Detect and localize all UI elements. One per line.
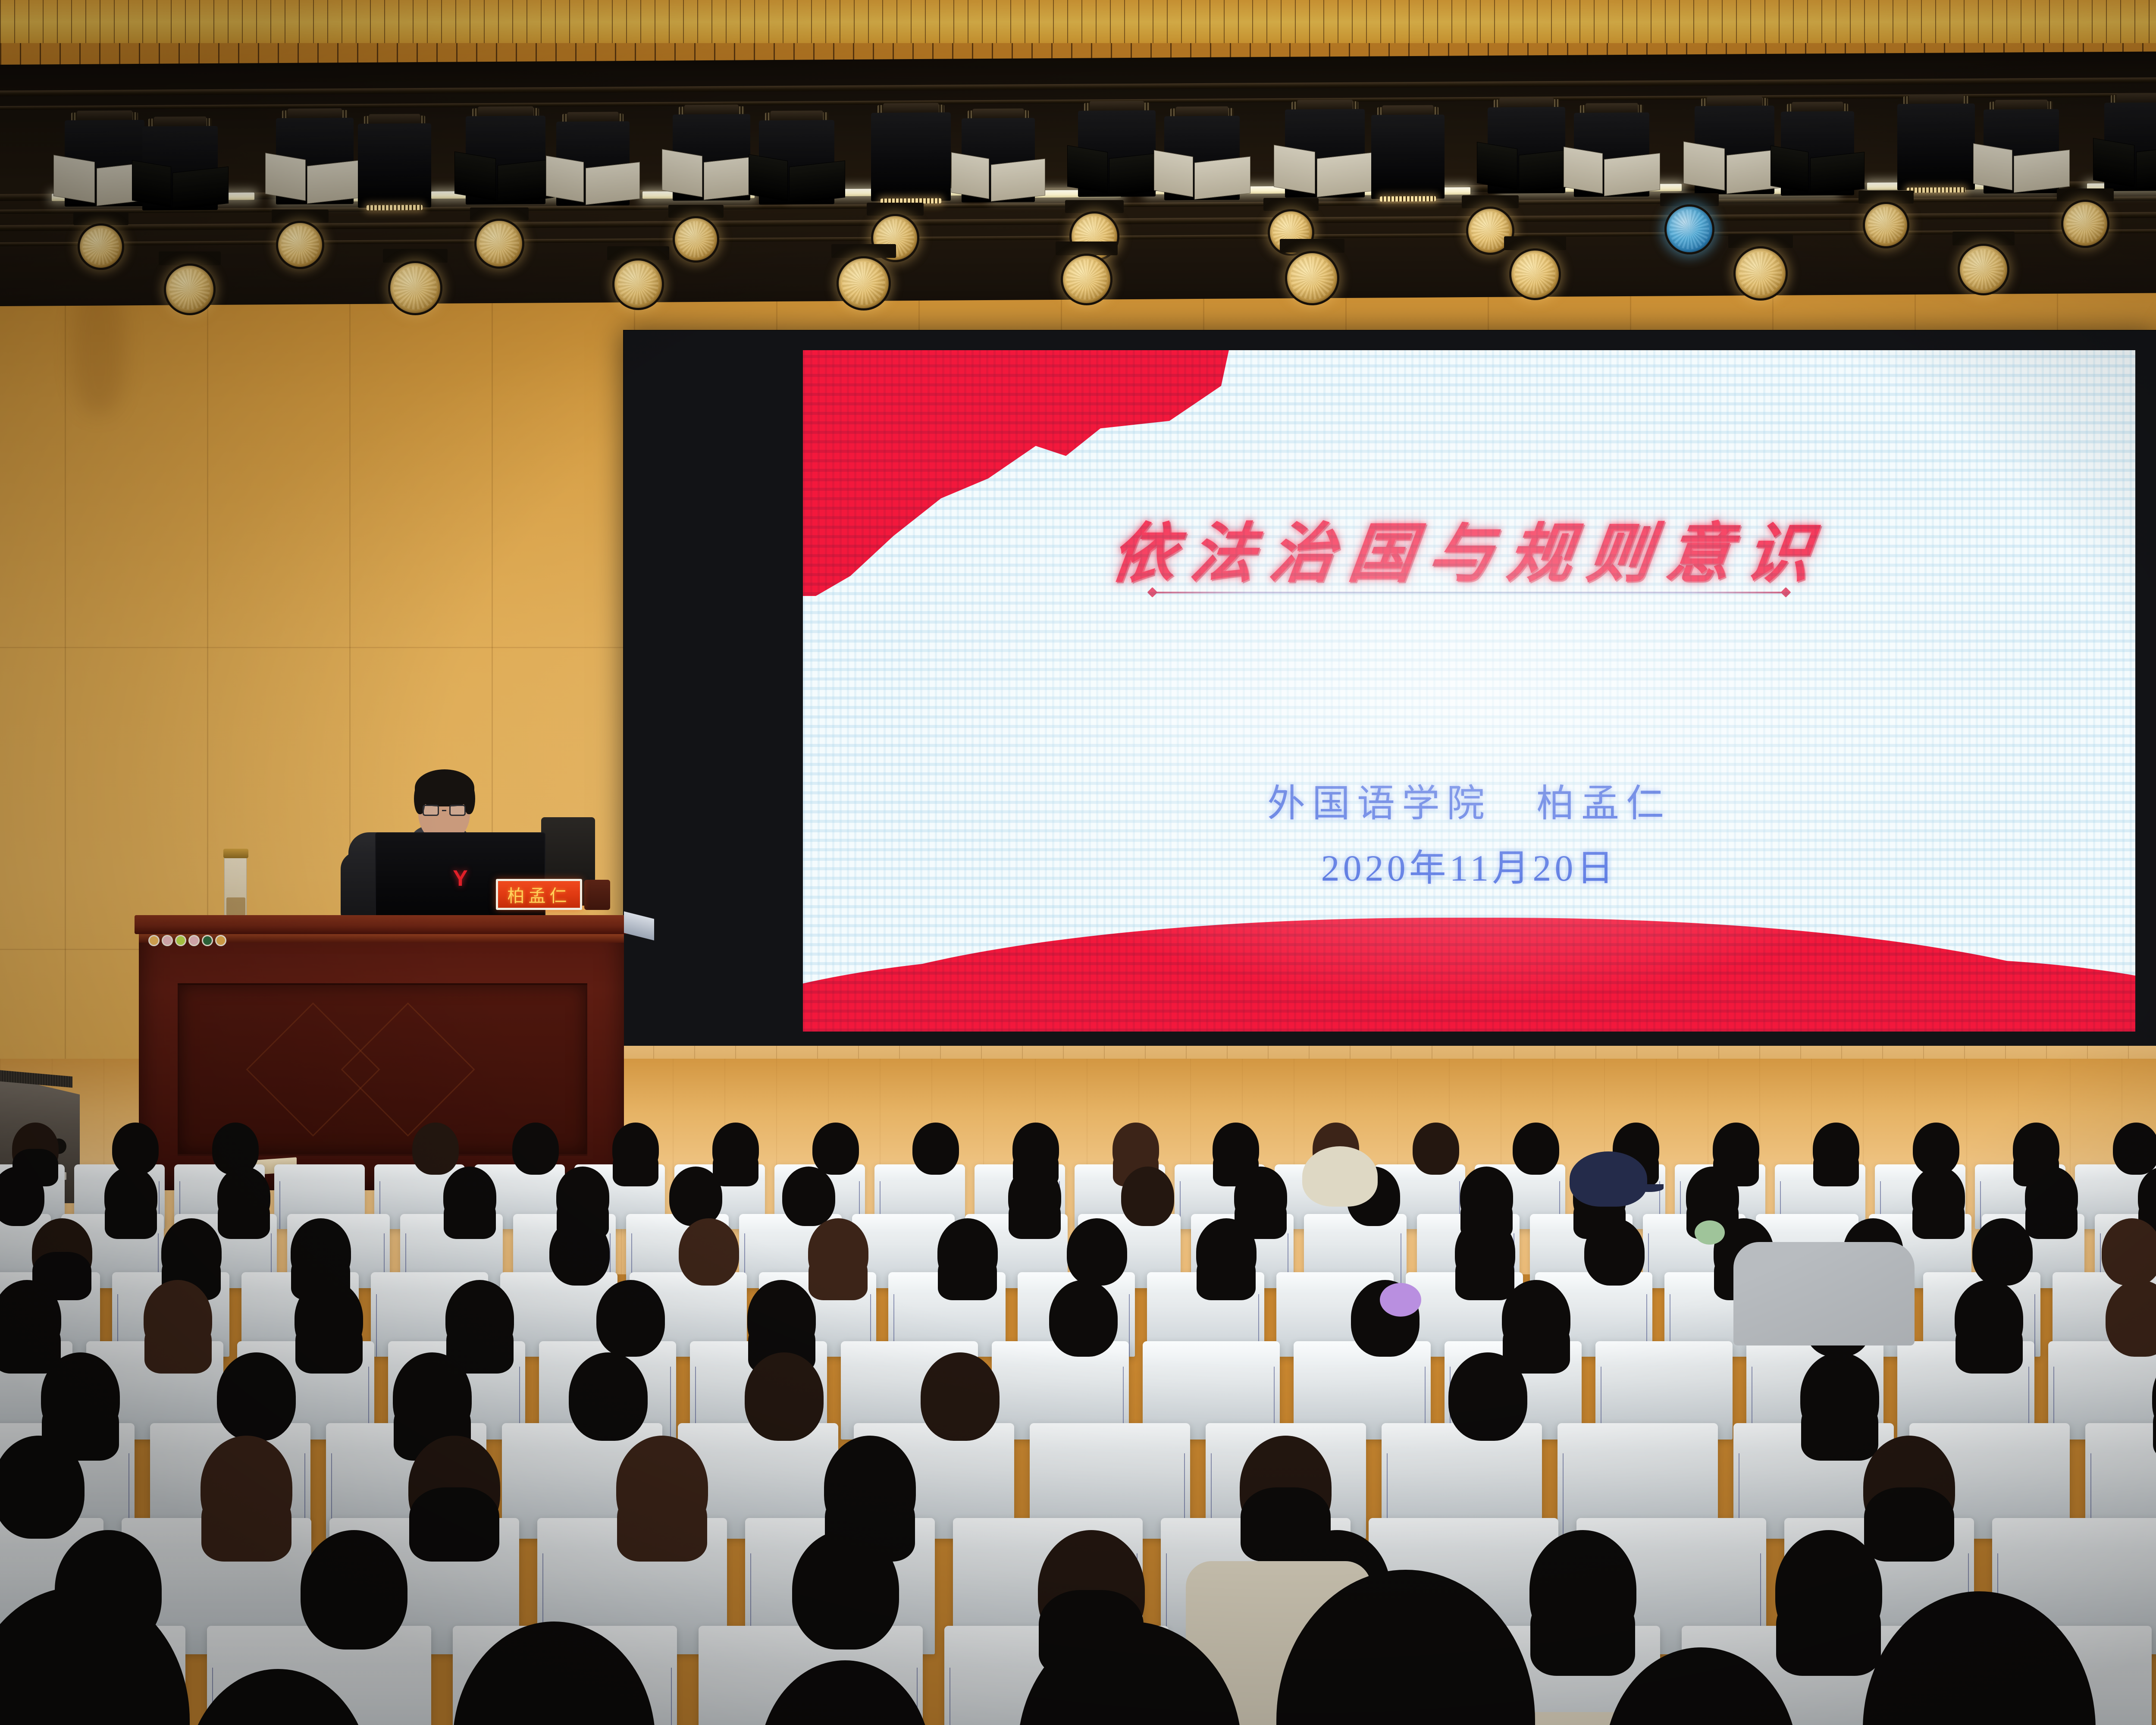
stage-light-fixture: [466, 116, 545, 204]
glasses-bridge: [442, 810, 446, 811]
podium-top-surface: [135, 915, 628, 934]
audience-head: [679, 1218, 739, 1286]
podium-button-1[interactable]: [148, 935, 160, 946]
audience-head: [1049, 1280, 1118, 1357]
audience-head: [301, 1530, 407, 1650]
par-can-light: [474, 219, 524, 269]
audience-head: [921, 1352, 1000, 1441]
audience-head: [1448, 1352, 1527, 1441]
stage-light-fixture: [358, 123, 431, 208]
audience-hair: [2025, 1196, 2078, 1239]
par-can-light: [276, 221, 324, 269]
stage-light-fixture: [142, 126, 218, 210]
jar-cap: [223, 849, 248, 858]
audience-head: [1584, 1218, 1645, 1286]
navy-cap: [1570, 1151, 1647, 1207]
audience-hair: [808, 1252, 868, 1300]
stage-light-fixture: [759, 120, 834, 204]
par-can-light: [388, 261, 442, 315]
par-can-light: [612, 258, 664, 310]
laptop-brand-logo: Y: [453, 866, 468, 891]
slide-content: 依法治国与规则意识 外国语学院 柏孟仁 2020年11月20日: [803, 350, 2135, 1032]
audience-hair: [201, 1487, 291, 1562]
podium-control-buttons[interactable]: [148, 935, 226, 946]
audience-hair: [1530, 1590, 1635, 1676]
podium-diamond-right: [341, 1002, 475, 1136]
stage-light-fixture: [871, 113, 951, 201]
par-can-light: [1733, 246, 1788, 301]
stage-light-fixture: [276, 118, 354, 204]
par-can-light: [673, 216, 719, 263]
beige-cap: [1302, 1146, 1378, 1207]
audience-head: [512, 1123, 559, 1175]
par-can-light: [1664, 204, 1714, 254]
audience-head: [596, 1280, 665, 1357]
audience-head-foreground: [759, 1660, 931, 1725]
par-can-light: [837, 256, 891, 310]
par-can-light: [1509, 248, 1561, 300]
audience-head: [912, 1123, 959, 1175]
navy-cap-brim: [1634, 1184, 1664, 1192]
par-can-light: [1061, 254, 1112, 305]
lecture-hall-photo: 依法治国与规则意识 外国语学院 柏孟仁 2020年11月20日: [0, 0, 2156, 1725]
stage-light-fixture: [556, 121, 630, 206]
audience-hair: [218, 1196, 270, 1239]
audience-hair: [617, 1487, 707, 1562]
audience-head-foreground: [1863, 1591, 2096, 1725]
grey-sweater-shoulder: [1733, 1242, 1915, 1345]
audience-hair: [144, 1318, 212, 1374]
audience-hair: [1912, 1196, 1965, 1239]
jar-contents: [226, 897, 245, 916]
audience-head-foreground: [185, 1669, 371, 1725]
audience-head: [1067, 1218, 1127, 1286]
lecturer-chair-arm: [584, 880, 610, 910]
par-can-light: [1863, 202, 1909, 248]
audience-head: [1413, 1123, 1459, 1175]
audience-members: [0, 1138, 2156, 1725]
audience-head: [569, 1352, 648, 1441]
audience-hair: [1813, 1149, 1859, 1186]
stage-light-fixture: [2104, 102, 2156, 191]
audience-head: [745, 1352, 824, 1441]
par-can-light: [164, 263, 216, 315]
audience-hair: [1801, 1397, 1878, 1461]
slide-affiliation-speaker: 外国语学院 柏孟仁: [803, 773, 2135, 828]
par-can-light: [1958, 244, 2009, 295]
glass-tea-jar[interactable]: [224, 855, 247, 919]
stage-light-fixture: [1984, 109, 2059, 194]
podium-button-4[interactable]: [188, 935, 200, 946]
audience-hair: [1955, 1318, 2023, 1374]
audience-hair: [0, 1318, 61, 1374]
stage-light-fixture: [1574, 113, 1649, 197]
audience-head: [792, 1530, 899, 1650]
audience-head: [217, 1352, 296, 1441]
stage-light-fixture: [1488, 107, 1565, 194]
audience-head: [1972, 1218, 2033, 1286]
par-can-light: [1285, 251, 1339, 305]
audience-hair: [1009, 1196, 1061, 1239]
audience-head: [2102, 1218, 2156, 1286]
audience-hair: [1455, 1252, 1514, 1300]
par-can-light: [78, 223, 124, 270]
audience-head: [782, 1167, 835, 1226]
audience-head: [212, 1123, 259, 1175]
glasses-lens-left: [423, 805, 439, 816]
stage-light-fixture: [1781, 111, 1854, 196]
stage-light-fixture: [1897, 103, 1975, 190]
audience-head: [669, 1167, 722, 1226]
speaker-nameplate: 柏孟仁: [496, 879, 582, 910]
title-divider-rule: [1152, 592, 1786, 593]
par-can-light: [2061, 200, 2109, 248]
stage-light-fixture: [673, 114, 750, 201]
podium-button-6[interactable]: [215, 935, 226, 946]
audience-hair: [444, 1196, 496, 1239]
audience-head: [2106, 1280, 2156, 1357]
stage-light-fixture: [1371, 115, 1445, 199]
audience-head: [412, 1123, 459, 1175]
audience-hair: [1864, 1487, 1954, 1562]
stage-light-fixture: [962, 118, 1035, 202]
green-scrunchie: [1695, 1220, 1725, 1245]
audience-head: [2113, 1123, 2156, 1175]
audience-head-foreground: [0, 1587, 190, 1725]
audience-hair: [1197, 1252, 1256, 1300]
purple-scrunchie: [1380, 1283, 1421, 1317]
podium-button-5[interactable]: [202, 935, 213, 946]
led-display-screen: 依法治国与规则意识 外国语学院 柏孟仁 2020年11月20日: [623, 330, 2156, 1054]
audience-hair: [938, 1252, 997, 1300]
stage-light-fixture: [1285, 109, 1365, 198]
audience-hair: [613, 1149, 658, 1186]
audience-head: [549, 1218, 610, 1286]
audience-head: [1513, 1123, 1559, 1175]
slide-date: 2020年11月20日: [803, 837, 2135, 891]
stage-light-fixture: [1695, 106, 1774, 194]
podium-button-2[interactable]: [162, 935, 173, 946]
slide-title: 依法治国与规则意识: [803, 501, 2135, 595]
audience-hair: [295, 1318, 363, 1374]
audience-hair: [105, 1196, 157, 1239]
audience-hair: [1776, 1590, 1881, 1676]
glasses-lens-right: [449, 805, 466, 816]
audience-head: [1121, 1167, 1174, 1226]
audience-head-foreground: [453, 1621, 655, 1725]
lecturer-glasses: [423, 805, 466, 816]
stage-light-fixture: [1164, 116, 1240, 200]
podium-button-3[interactable]: [175, 935, 186, 946]
audience-head: [812, 1123, 859, 1175]
stage-light-fixture: [1078, 110, 1156, 197]
audience-hair: [409, 1487, 499, 1562]
audience-hair: [713, 1149, 758, 1186]
